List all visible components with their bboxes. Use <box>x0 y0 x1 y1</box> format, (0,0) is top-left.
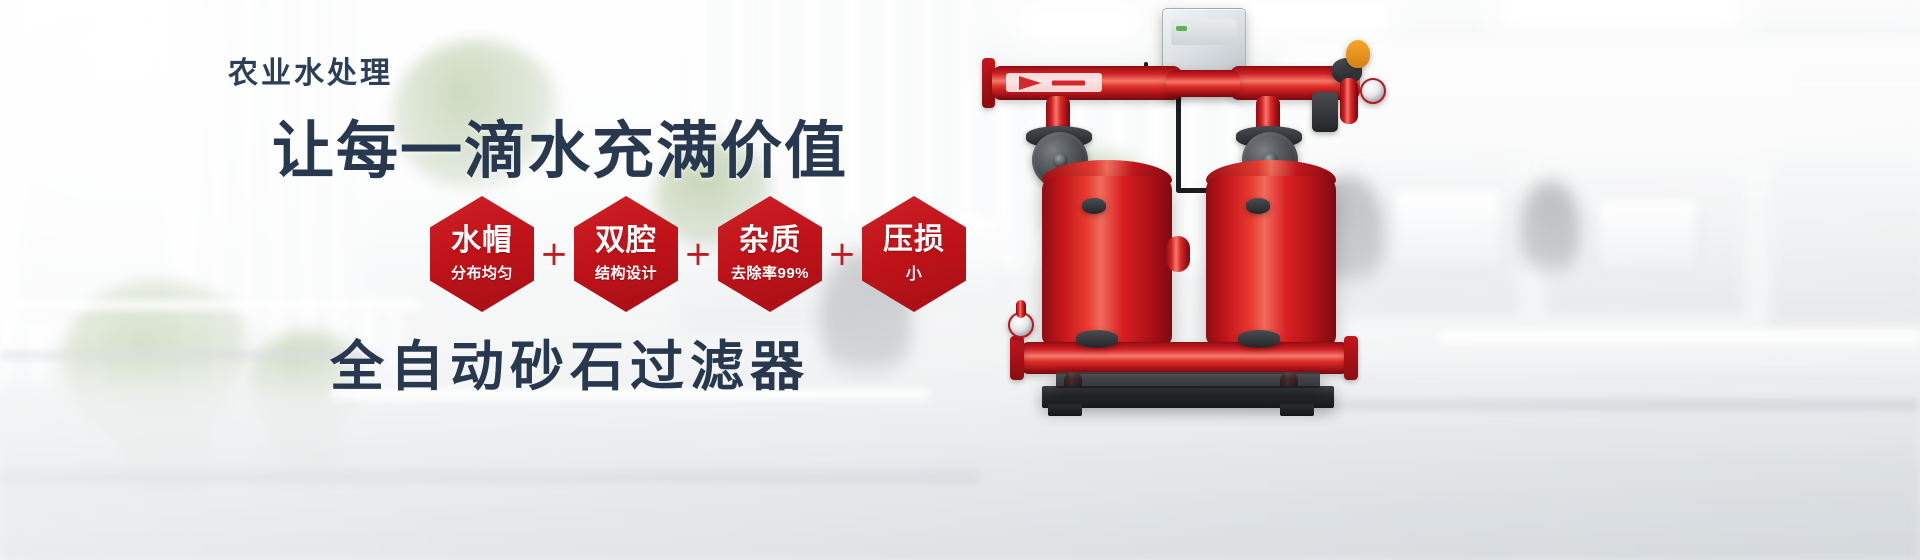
valve-body <box>1312 92 1338 132</box>
feature-badge-3: 杂质 去除率99% <box>718 196 822 312</box>
base-foot <box>1280 404 1314 416</box>
feature-badge-1: 水帽 分布均匀 <box>430 196 534 312</box>
plus-separator-icon: + <box>678 237 718 271</box>
badge-title: 双腔 <box>595 225 657 257</box>
feature-badge-row: 水帽 分布均匀 + 双腔 结构设计 + 杂质 去除率99% + 压损 小 <box>430 196 966 312</box>
headline-text: 让每一滴水充满价值 <box>272 100 848 190</box>
tank-left <box>1042 176 1172 346</box>
feature-badge-4: 压损 小 <box>862 196 966 312</box>
relief-valve <box>1346 40 1370 68</box>
pressure-gauge <box>1360 78 1386 104</box>
bottom-manifold <box>1020 342 1350 374</box>
banner-copy: 农业水处理 让每一滴水充满价值 全自动砂石过滤器 水帽 分布均匀 + 双腔 结构… <box>0 0 1000 560</box>
hero-banner: BAIYIKANG <box>0 0 1920 560</box>
base-foot <box>1048 404 1082 416</box>
flow-arrow <box>1006 73 1102 92</box>
badge-title: 水帽 <box>451 225 513 257</box>
plus-separator-icon: + <box>534 237 574 271</box>
feature-badge-2: 双腔 结构设计 <box>574 196 678 312</box>
gauge-stem <box>1016 300 1026 318</box>
bottom-valve-left <box>1076 330 1118 348</box>
manifold-flange-left <box>1010 336 1024 380</box>
controller-display <box>1171 19 1237 45</box>
tank-port-right <box>1246 198 1270 214</box>
side-nozzle <box>1166 236 1190 272</box>
eyebrow-text: 农业水处理 <box>228 48 393 92</box>
badge-subtitle: 结构设计 <box>595 262 657 283</box>
pipe-tee <box>1166 70 1240 97</box>
status-led <box>1176 26 1187 31</box>
badge-subtitle: 去除率99% <box>731 262 809 283</box>
product-sand-filter: BAIYIKANG <box>980 0 1460 560</box>
plus-separator-icon: + <box>822 237 862 271</box>
badge-subtitle: 分布均匀 <box>451 262 513 283</box>
tank-right <box>1206 176 1336 346</box>
manifold-flange-right <box>1344 336 1358 380</box>
bottom-valve-right <box>1238 330 1280 348</box>
inlet-pipe <box>992 66 1182 100</box>
tank-port-left <box>1082 198 1106 214</box>
badge-title: 压损 <box>883 224 945 256</box>
riser-pipe <box>1340 78 1358 124</box>
badge-title: 杂质 <box>739 225 801 257</box>
badge-subtitle: 小 <box>906 260 923 284</box>
base-frame-upper <box>1056 372 1320 388</box>
product-name-text: 全自动砂石过滤器 <box>330 322 810 401</box>
